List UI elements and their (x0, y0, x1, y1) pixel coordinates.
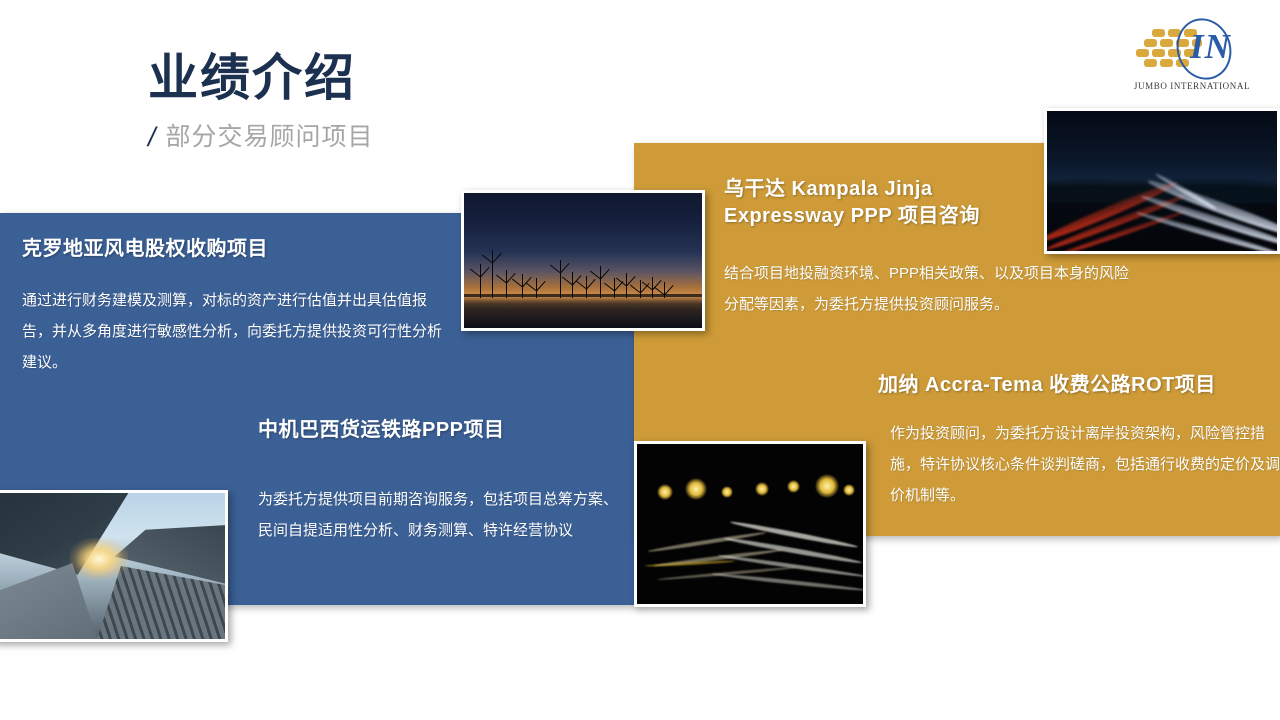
card-title-uganda-kampala-jinja-expressway-ppp: 乌干达 Kampala Jinja Expressway PPP 项目咨询 (724, 176, 1044, 230)
card-body-brazil-freight-railway-ppp: 为委托方提供项目前期咨询服务，包括项目总筹方案、民间自提适用性分析、财务测算、特… (258, 484, 618, 546)
photo-highway-night-light-trails (1044, 108, 1280, 254)
logo-initials: IN (1190, 27, 1231, 67)
card-body-ghana-accra-tema-rot: 作为投资顾问，为委托方设计离岸投资架构，风险管控措施，特许协议核心条件谈判磋商，… (890, 418, 1280, 512)
logo-company-name: JUMBO INTERNATIONAL (1128, 81, 1256, 91)
card-title-brazil-freight-railway-ppp: 中机巴西货运铁路PPP项目 (258, 417, 658, 444)
logo-mark: IN (1134, 18, 1250, 76)
photo-city-highway-night (634, 441, 866, 607)
page-title: 业绩介绍 (148, 52, 708, 105)
card-body-croatia-wind-power: 通过进行财务建模及测算，对标的资产进行估值并出具估值报告，并从多角度进行敏感性分… (22, 285, 454, 379)
card-title-croatia-wind-power: 克罗地亚风电股权收购项目 (22, 236, 582, 263)
page-subtitle-row: / 部分交易顾问项目 (148, 117, 708, 153)
page-subtitle: 部分交易顾问项目 (166, 117, 374, 153)
card-body-uganda-kampala-jinja-expressway-ppp: 结合项目地投融资环境、PPP相关政策、以及项目本身的风险分配等因素，为委托方提供… (724, 258, 1144, 320)
page-title-block: 业绩介绍 / 部分交易顾问项目 (148, 52, 708, 153)
photo-railway-platform-sunrise (0, 490, 228, 642)
slide-root: 业绩介绍 / 部分交易顾问项目 (0, 0, 1280, 720)
company-logo: IN JUMBO INTERNATIONAL (1128, 18, 1256, 102)
card-title-ghana-accra-tema-rot: 加纳 Accra-Tema 收费公路ROT项目 (878, 372, 1280, 399)
subtitle-slash-icon: / (148, 122, 156, 153)
